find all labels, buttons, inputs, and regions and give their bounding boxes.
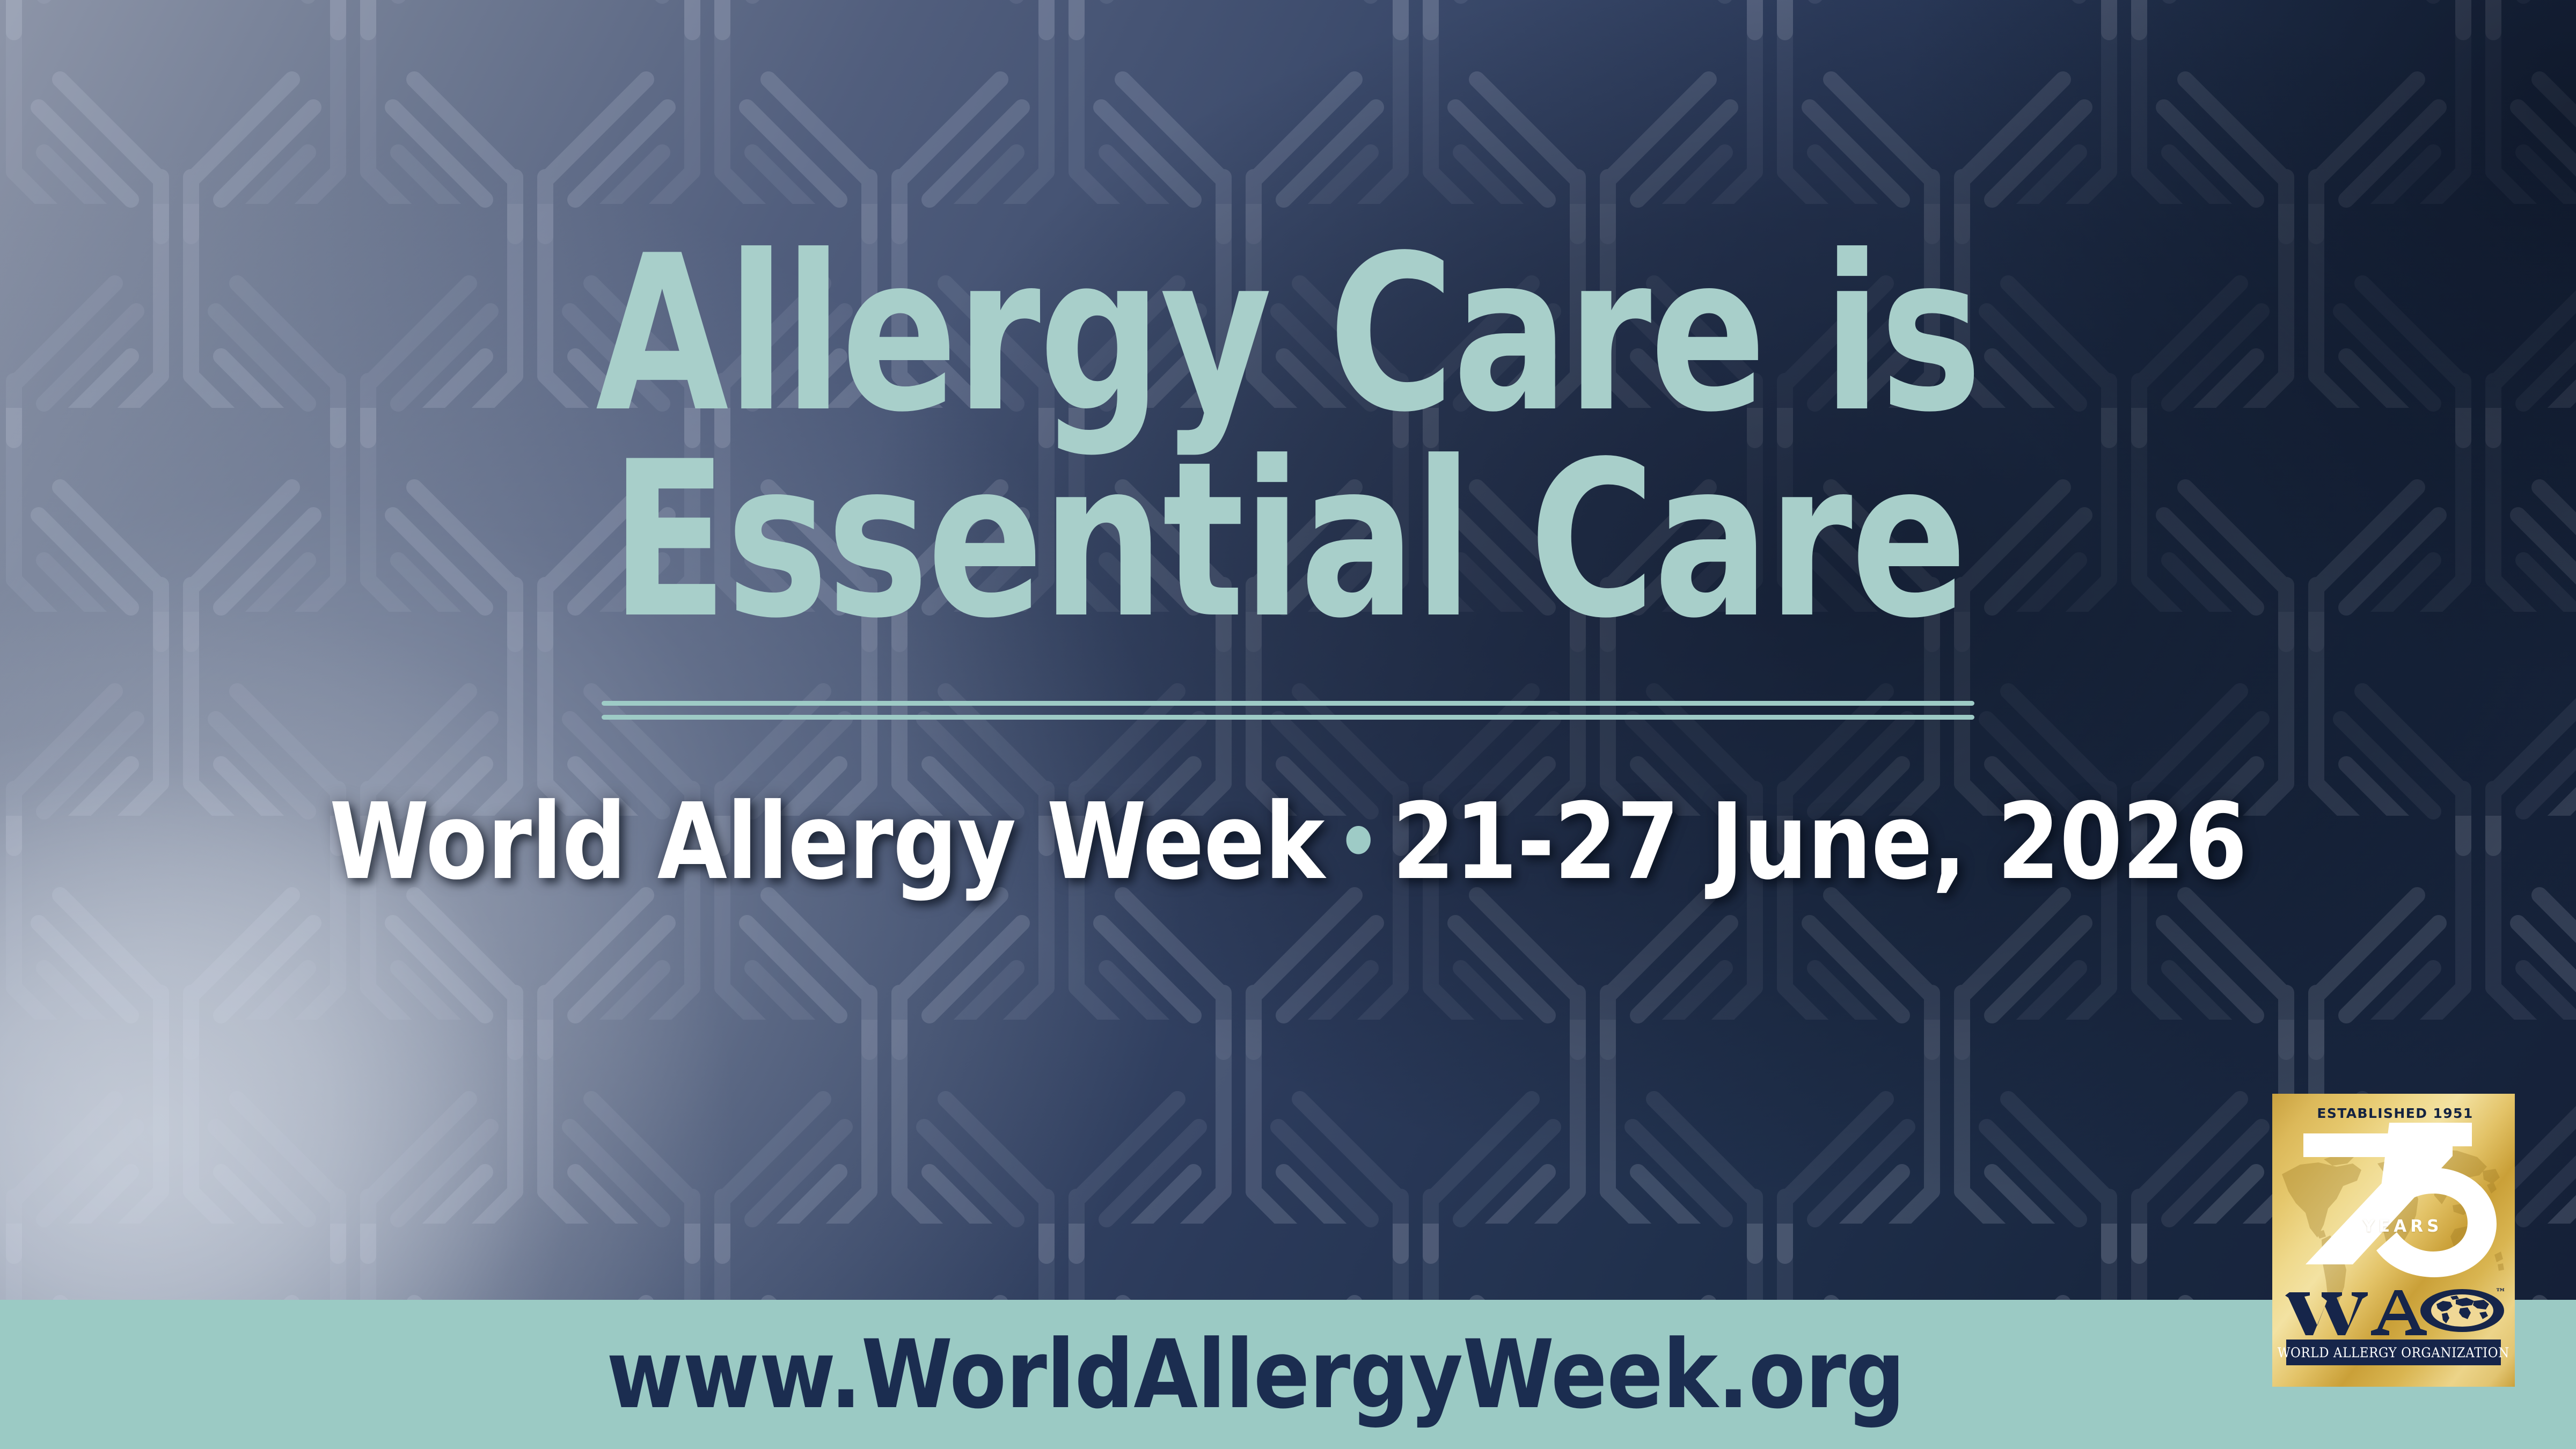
page-title: Allergy Care is Essential Care bbox=[386, 232, 2190, 644]
website-url[interactable]: www.WorldAllergyWeek.org bbox=[606, 1320, 1905, 1430]
trademark-symbol: ™ bbox=[2495, 1286, 2507, 1299]
wao-75-anniversary-logo[interactable]: ESTABLISHED 1951 YEARS bbox=[2272, 1094, 2515, 1387]
event-dates: 21-27 June, 2026 bbox=[1392, 781, 2247, 903]
footer-bar: www.WorldAllergyWeek.org bbox=[0, 1300, 2576, 1449]
rule-top bbox=[602, 701, 1974, 706]
bullet-separator-icon: • bbox=[1324, 796, 1392, 889]
years-label: YEARS bbox=[2272, 1217, 2515, 1236]
headline-line-1: Allergy Care is bbox=[386, 232, 2190, 438]
world-allergy-week-banner: Allergy Care is Essential Care World All… bbox=[0, 0, 2576, 1449]
organization-name: WORLD ALLERGY ORGANIZATION bbox=[2278, 1345, 2509, 1360]
event-name: World Allergy Week bbox=[329, 781, 1324, 903]
organization-name-bar: WORLD ALLERGY ORGANIZATION bbox=[2286, 1340, 2501, 1365]
event-subtitle: World Allergy Week•21-27 June, 2026 bbox=[329, 789, 2246, 895]
seventy-five-numeral bbox=[2272, 1118, 2515, 1279]
decorative-double-rule bbox=[602, 701, 1974, 720]
headline-line-2: Essential Care bbox=[386, 438, 2190, 644]
rule-bottom bbox=[602, 715, 1974, 720]
banner-content: Allergy Care is Essential Care World All… bbox=[0, 0, 2576, 1300]
wao-wordmark bbox=[2282, 1285, 2505, 1336]
